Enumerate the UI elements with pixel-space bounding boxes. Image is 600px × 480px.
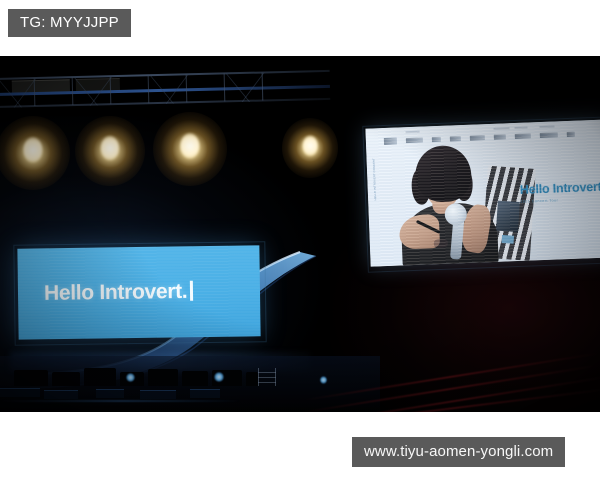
slide-text-label: Hello Introvert. [44,279,188,304]
stage-photo: Hello Introvert. HELLO INTROVERT CONCERT [0,56,600,412]
performer-tattoo [434,239,448,249]
right-led-screen[interactable]: HELLO INTROVERT CONCERT Hello Introve [365,119,600,266]
performer-hair [414,145,472,203]
spotlight-halo [0,116,70,190]
sponsor-logo-icon [567,132,575,137]
spotlight-halo [75,116,145,186]
audience-seat-block [140,390,176,399]
stage-equipment-silhouette [182,371,208,386]
spotlight-core [303,135,318,155]
sponsor-logo-icon [432,137,441,142]
stage-spotlight [0,116,70,190]
stage-floor-light [214,372,224,382]
sponsor-logo-icon [384,138,397,145]
slide-performer-photo [390,138,535,265]
left-led-screen[interactable]: Hello Introvert. [17,245,260,339]
audience-seat-block [44,390,78,399]
performer-object-panel [496,201,520,232]
stage-spotlight [75,116,145,186]
audience-seat-block [96,389,124,398]
stage-equipment-silhouette [52,372,80,386]
stage-equipment-silhouette [246,372,258,386]
sponsor-logo-icon [406,138,423,144]
audience-seat-block [190,389,220,398]
overhead-lighting-truss [0,68,330,112]
performer-object-chip [502,235,515,244]
sponsor-logo-icon [470,135,485,141]
spotlight-core [101,136,119,160]
stage-spotlight [282,118,338,178]
sponsor-logo-icon [515,133,531,139]
stage-equipment-silhouette [84,368,116,386]
truss-rail-top [0,70,330,80]
stage-floor-light [320,376,327,384]
tg-handle-badge: TG: MYYJJPP [8,9,131,37]
audience-seat-row [0,400,240,402]
site-watermark: www.tiyu-aomen-yongli.com [352,437,565,467]
spotlight-halo [282,118,338,178]
stage-equipment-silhouette [14,370,48,386]
truss-equipment-box [76,78,120,91]
slide-headline-text: Hello Introvert [520,180,600,197]
sponsor-logo-icon [540,132,558,138]
sponsor-logo-icon [450,136,461,141]
spotlight-core [23,137,42,162]
stage-floor-light [126,373,135,382]
spotlight-halo [153,112,227,186]
stage-equipment-silhouette [148,369,178,386]
stage-floor [0,356,380,412]
stage-spotlight [153,112,227,186]
spotlight-core [180,133,199,158]
truss-equipment-box [12,79,70,92]
audience-seat-block [0,388,40,397]
stage-ladder [258,368,276,386]
sponsor-logo-icon [494,134,506,139]
text-caret-icon [190,280,193,300]
slide-headline-block: Hello Introvert 2021 Concert Tour [520,180,600,204]
left-screen-slide-text: Hello Introvert. [44,279,194,305]
